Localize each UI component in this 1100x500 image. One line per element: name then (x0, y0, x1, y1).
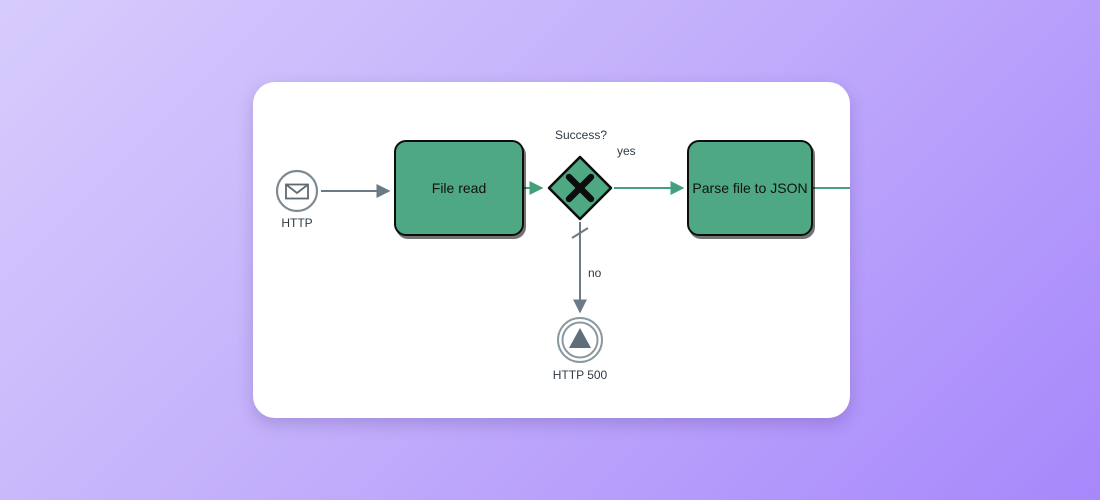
envelope-icon (286, 185, 308, 199)
task-file-read-label: File read (432, 179, 486, 197)
diagram-card: HTTP File read Success? yes no Parse fil… (253, 82, 850, 418)
task-parse-json-label: Parse file to JSON (692, 179, 807, 197)
end-event-http500[interactable] (556, 316, 604, 364)
task-parse-json[interactable]: Parse file to JSON (687, 140, 813, 236)
start-event-http[interactable] (275, 169, 319, 213)
task-file-read[interactable]: File read (394, 140, 524, 236)
diagram-canvas: HTTP File read Success? yes no Parse fil… (0, 0, 1100, 500)
diagram-surface[interactable]: HTTP File read Success? yes no Parse fil… (253, 82, 850, 418)
flow-label-no: no (588, 266, 601, 280)
flow-label-yes: yes (617, 144, 636, 158)
gateway-success[interactable] (546, 154, 614, 222)
start-event-label: HTTP (257, 216, 337, 230)
gateway-label: Success? (519, 128, 643, 142)
end-event-label: HTTP 500 (520, 368, 640, 382)
